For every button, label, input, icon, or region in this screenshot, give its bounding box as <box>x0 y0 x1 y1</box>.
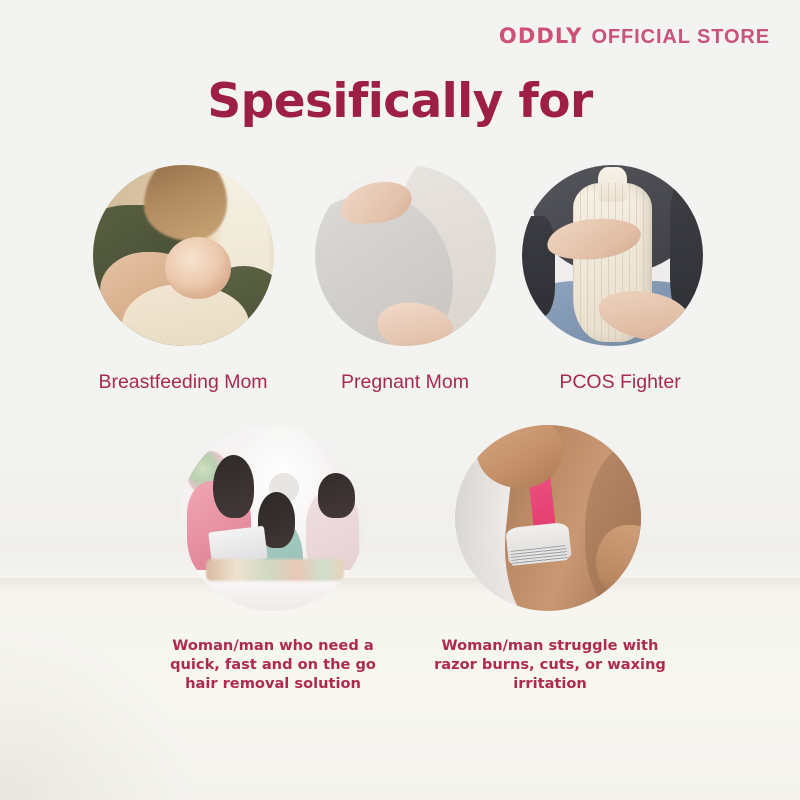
brand-header: ODDLY OFFICIAL STORE <box>499 24 770 49</box>
busy-women-working-photo <box>180 425 366 611</box>
baby-head <box>165 237 230 299</box>
desk-items <box>206 559 344 581</box>
promotional-poster: ODDLY OFFICIAL STORE Spesifically for <box>0 0 800 800</box>
caption-line: razor burns, cuts, or waxing <box>425 655 675 674</box>
razor-shaving-image <box>455 425 641 611</box>
woman-right-hair <box>318 473 355 518</box>
pregnant-mom-image <box>315 165 496 346</box>
label-pcos-fighter: PCOS Fighter <box>505 371 735 394</box>
caption-line: quick, fast and on the go <box>148 655 398 674</box>
caption-line: irritation <box>425 674 675 693</box>
pregnant-mom-photo <box>315 165 496 346</box>
caption-line: Woman/man who need a <box>148 636 398 655</box>
backdrop-seam <box>0 578 800 594</box>
mother-hair <box>144 165 227 241</box>
page-title: Spesifically for <box>0 74 800 129</box>
label-breastfeeding-mom: Breastfeeding Mom <box>58 371 308 394</box>
brand-suffix: OFFICIAL STORE <box>591 26 770 49</box>
busy-women-image <box>180 425 366 611</box>
caption-line: hair removal solution <box>148 674 398 693</box>
breastfeeding-mom-photo <box>93 165 274 346</box>
shadow-left <box>522 216 555 317</box>
brand-wordmark: ODDLY <box>499 24 583 48</box>
razor-shaving-leg-photo <box>455 425 641 611</box>
shadow-right <box>670 176 703 321</box>
pcos-fighter-image <box>522 165 703 346</box>
caption-quick-hair-removal: Woman/man who need a quick, fast and on … <box>148 636 398 693</box>
breastfeeding-mom-image <box>93 165 274 346</box>
caption-line: Woman/man struggle with <box>425 636 675 655</box>
woman-left-hair <box>213 455 254 518</box>
caption-razor-burns: Woman/man struggle with razor burns, cut… <box>425 636 675 693</box>
pcos-fighter-photo <box>522 165 703 346</box>
label-pregnant-mom: Pregnant Mom <box>290 371 520 394</box>
